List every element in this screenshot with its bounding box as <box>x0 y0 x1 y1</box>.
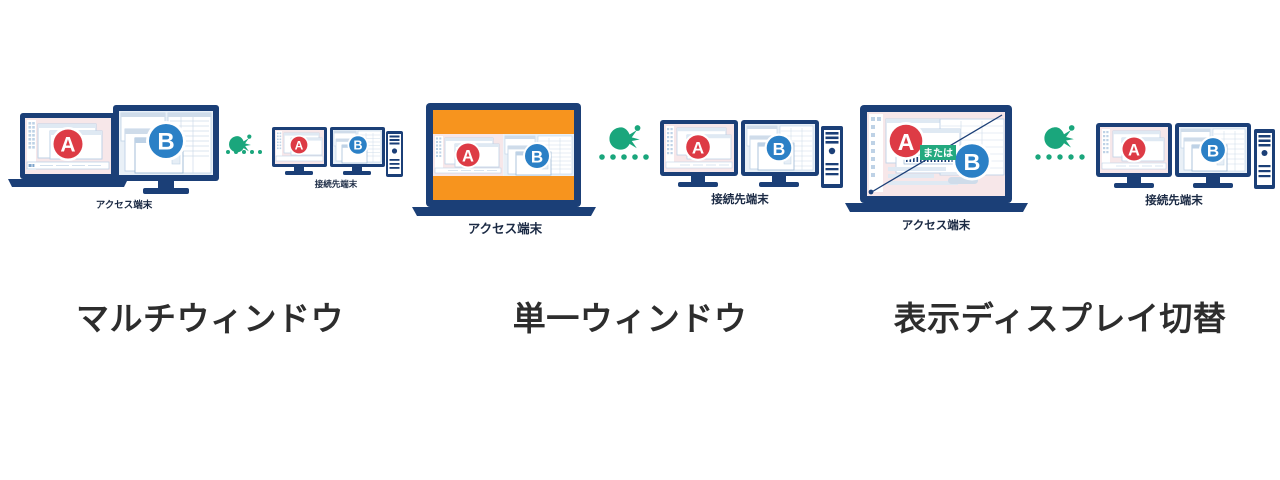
splash-icon <box>229 135 251 153</box>
connector-dots <box>1035 154 1084 159</box>
svg-text:または: または <box>923 148 953 160</box>
target-badge-a: A <box>289 135 309 155</box>
badge-a: A <box>51 127 85 161</box>
svg-text:B: B <box>1207 142 1219 161</box>
connector-dots <box>599 154 649 160</box>
panel-multi-window: A <box>0 0 420 480</box>
panel-caption: マルチウィンドウ <box>0 292 420 340</box>
svg-text:A: A <box>295 138 304 152</box>
panel-single-window: A <box>410 0 850 480</box>
target-monitor-a: A <box>660 120 738 187</box>
svg-text:A: A <box>692 139 704 158</box>
panel-display-switch: A B または アクセス端末 <box>840 0 1280 480</box>
badge-b: B <box>953 142 992 181</box>
target-terminal-label: 接続先端末 <box>711 192 769 206</box>
panel-display-switch-artwork: A B または アクセス端末 <box>840 95 1280 245</box>
target-terminal-label: 接続先端末 <box>315 179 358 189</box>
panel-caption: 単一ウィンドウ <box>410 292 850 340</box>
target-monitor-b: B <box>1175 123 1251 188</box>
target-badge-b: B <box>348 135 369 156</box>
connector-group <box>599 125 649 160</box>
target-badge-a: A <box>1120 135 1147 162</box>
laptop-split-left-pane: A <box>433 134 503 176</box>
diagram-board: A <box>0 0 1280 480</box>
target-monitor-a: A <box>272 127 327 175</box>
badge-a: A <box>455 142 482 169</box>
badge-b: B <box>146 121 186 161</box>
svg-text:A: A <box>1128 141 1140 159</box>
access-terminal-label: アクセス端末 <box>468 221 543 236</box>
target-badge-a: A <box>684 133 712 161</box>
svg-text:A: A <box>60 134 75 157</box>
laptop-split-device: A <box>412 103 596 216</box>
target-badge-b: B <box>765 134 794 163</box>
svg-text:B: B <box>531 148 543 167</box>
panel-caption: 表示ディスプレイ切替 <box>840 292 1280 340</box>
target-terminal-label: 接続先端末 <box>1145 193 1203 207</box>
panel-single-window-artwork: A <box>410 95 850 245</box>
splash-icon <box>1044 125 1074 149</box>
access-terminal-label: アクセス端末 <box>96 199 153 211</box>
connector-group <box>226 135 262 154</box>
svg-text:B: B <box>353 139 362 153</box>
access-terminal-label: アクセス端末 <box>902 218 971 232</box>
target-monitor-a: A <box>1096 123 1172 188</box>
target-monitor-b: B <box>330 127 385 175</box>
svg-text:B: B <box>157 129 174 156</box>
svg-text:B: B <box>964 149 981 175</box>
tower-pc <box>386 131 403 177</box>
tower-pc <box>1254 129 1275 189</box>
connector-dots <box>226 150 262 154</box>
splash-icon <box>609 125 640 149</box>
connector-group <box>1035 125 1084 160</box>
svg-text:B: B <box>773 139 786 159</box>
badge-a: A <box>887 122 925 160</box>
laptop-device-a: A <box>8 113 128 187</box>
svg-text:A: A <box>462 148 474 166</box>
target-badge-b: B <box>1199 136 1227 164</box>
laptop-diagonal-device: A B または <box>845 105 1028 212</box>
svg-text:A: A <box>898 129 915 155</box>
laptop-split-right-pane: B <box>504 134 574 176</box>
target-monitor-b: B <box>741 120 819 187</box>
monitor-device-b: B <box>113 105 219 194</box>
or-badge: または <box>920 145 956 160</box>
panel-multi-window-artwork: A <box>0 95 420 245</box>
badge-b: B <box>523 142 551 170</box>
